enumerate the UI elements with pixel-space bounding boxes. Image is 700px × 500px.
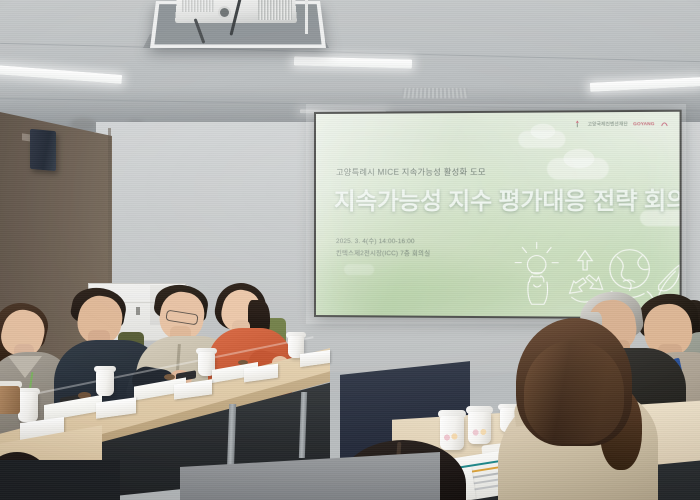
wall-speaker	[30, 129, 56, 171]
air-vent-grille	[401, 88, 469, 98]
coffee-cup[interactable]	[18, 392, 38, 422]
coffee-cup[interactable]	[96, 370, 114, 396]
screen-glare	[316, 112, 680, 318]
hair-highlight	[524, 340, 624, 444]
cabinet-handle[interactable]	[136, 307, 140, 315]
projector-vent	[258, 0, 292, 20]
table-modesty-panel	[0, 460, 120, 500]
cup-floral-print	[442, 432, 462, 443]
projection-screen-frame: 고양국제컨벤션재단 GOYANG 고양특례시 MICE 지속가능성 활성화 도모…	[314, 110, 682, 320]
iced-coffee-cup[interactable]	[0, 386, 20, 414]
cup-floral-print	[470, 427, 489, 438]
projector-mount-rod	[305, 0, 308, 34]
projector-lens	[220, 8, 229, 17]
projector-grille	[182, 0, 214, 12]
presentation-slide: 고양국제컨벤션재단 GOYANG 고양특례시 MICE 지속가능성 활성화 도모…	[316, 112, 680, 318]
meeting-room-photo: 고양국제컨벤션재단 GOYANG 고양특례시 MICE 지속가능성 활성화 도모…	[0, 0, 700, 500]
